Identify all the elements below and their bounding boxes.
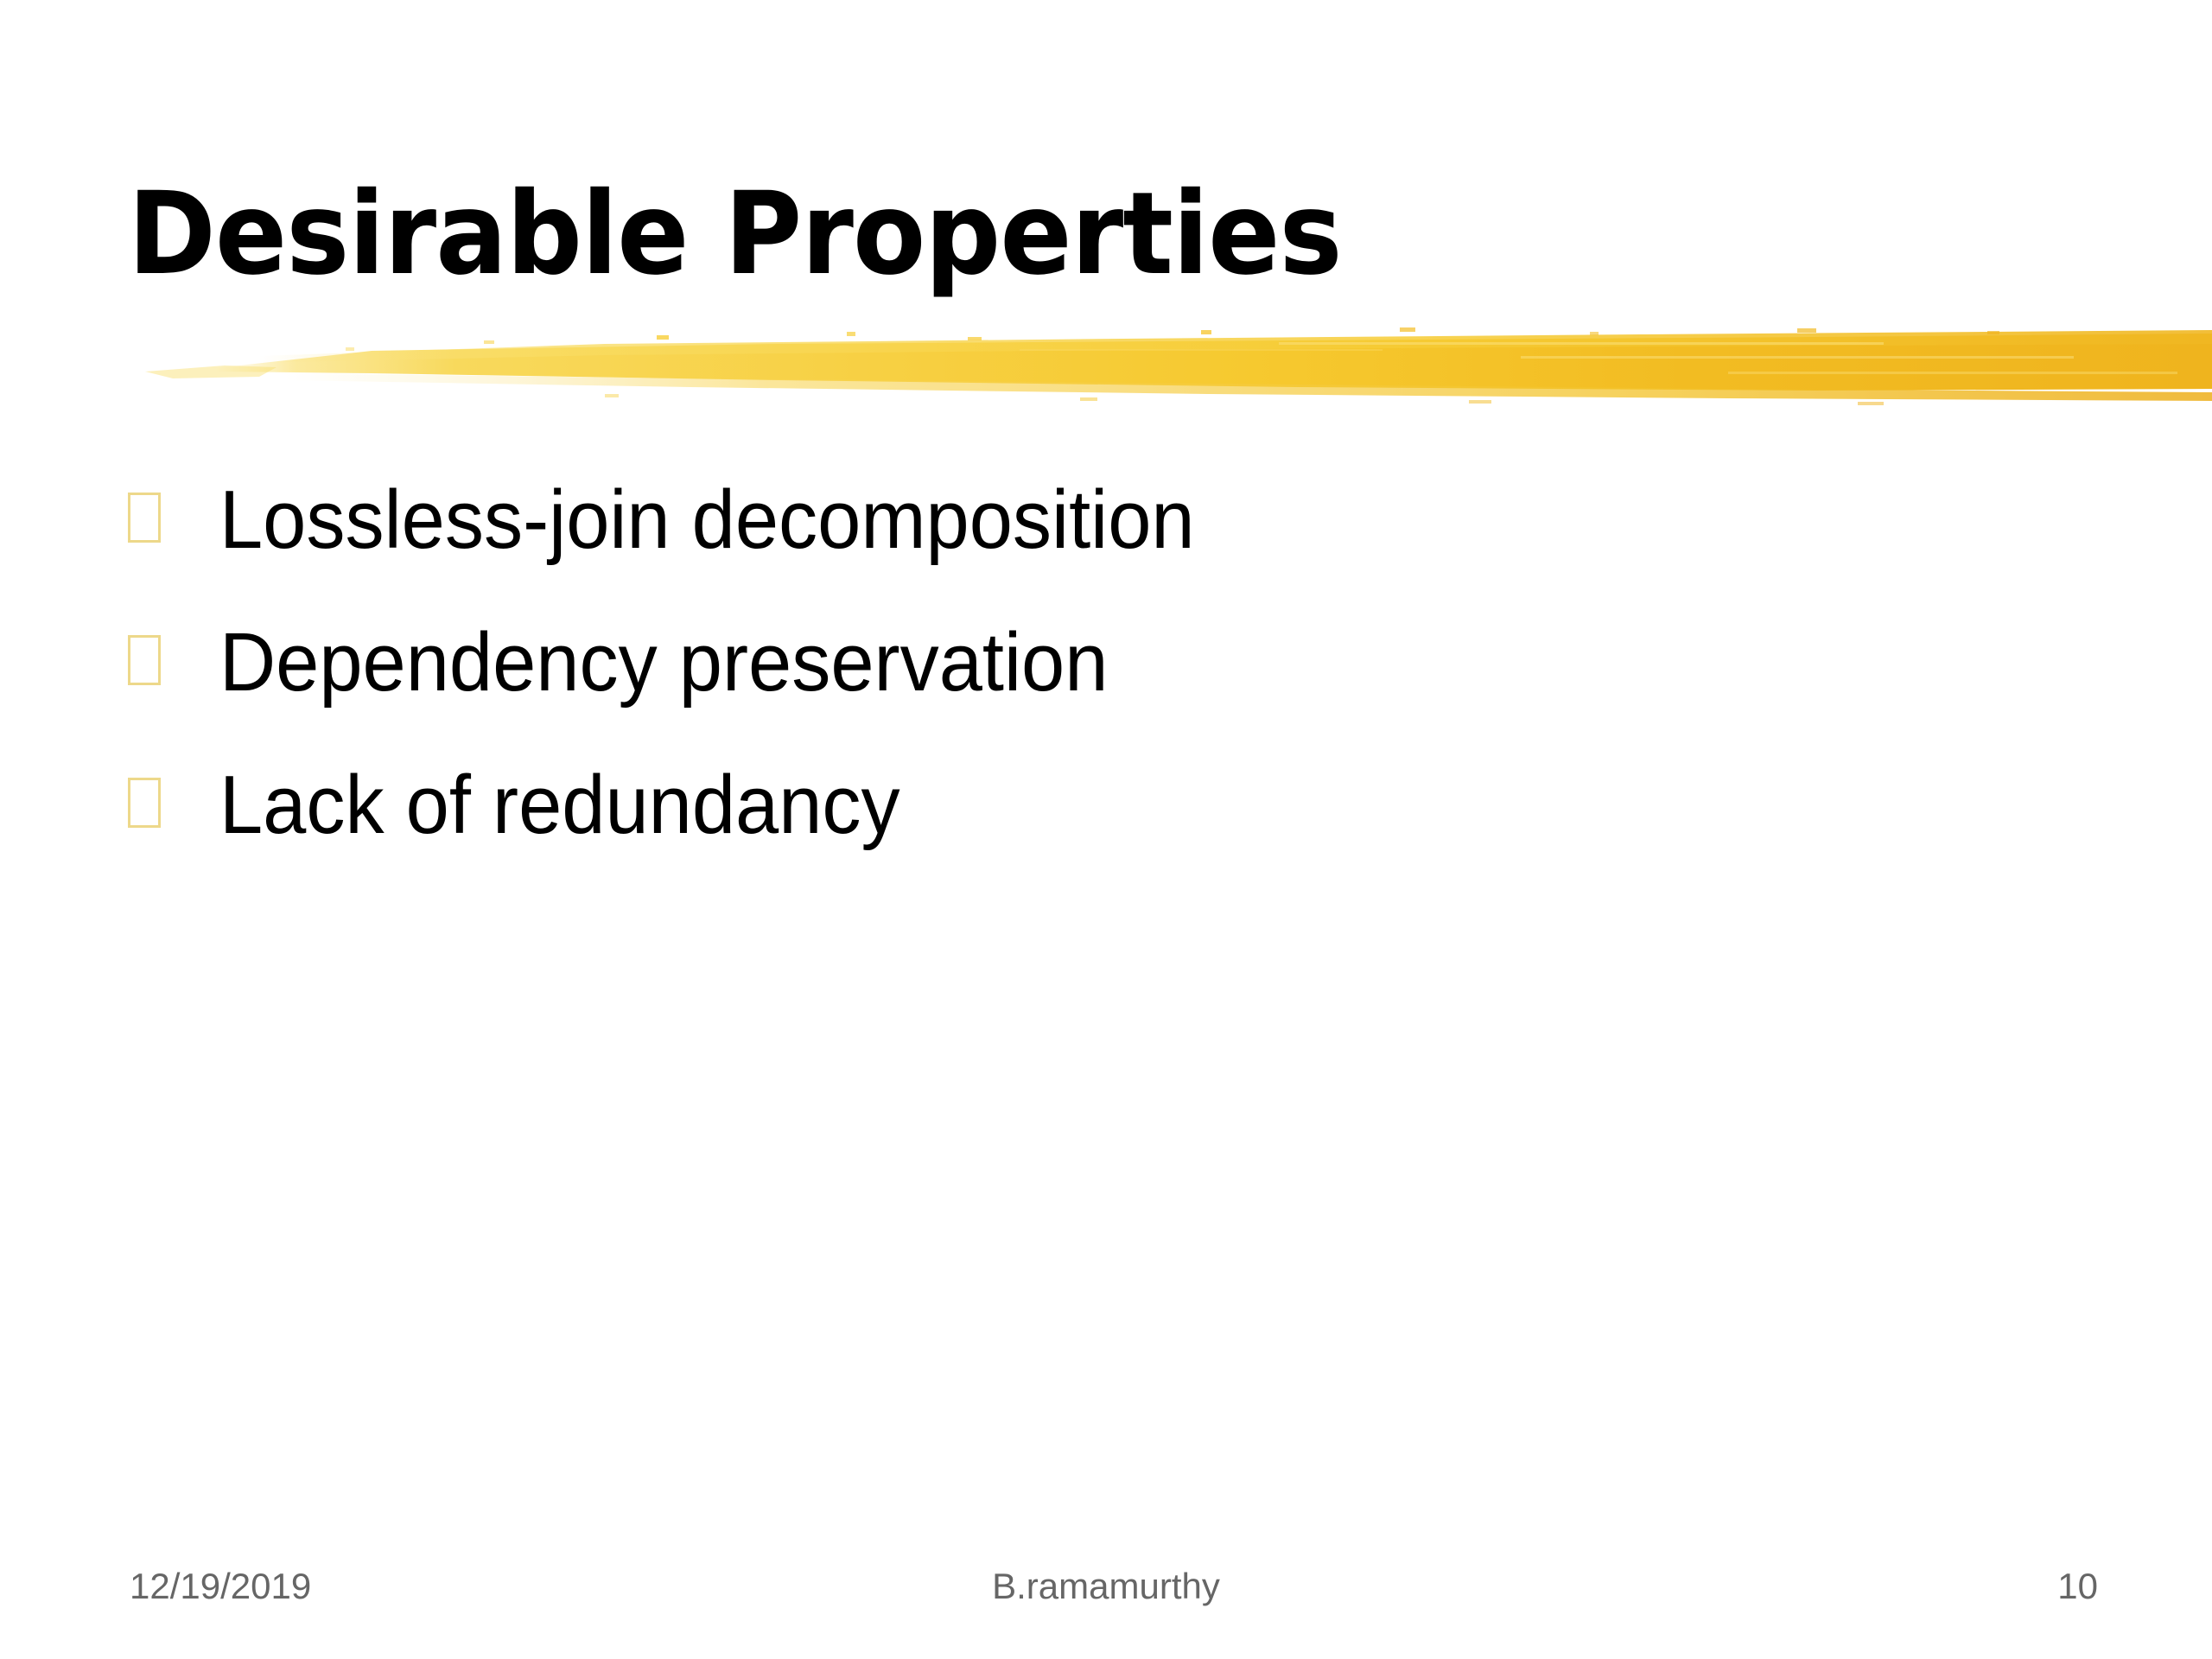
list-item: Lossless-join decomposition xyxy=(128,474,2081,616)
hollow-box-bullet-icon xyxy=(128,493,161,543)
page-title: Desirable Properties xyxy=(128,169,1976,299)
hollow-box-bullet-icon xyxy=(128,778,161,828)
title-block: Desirable Properties xyxy=(128,169,2115,308)
list-item-label: Lossless-join decomposition xyxy=(219,474,1195,567)
list-item: Dependency preservation xyxy=(128,616,2081,759)
brush-stroke-icon xyxy=(0,318,2212,413)
presentation-slide: Desirable Properties xyxy=(0,0,2212,1659)
slide-number: 10 xyxy=(2057,1566,2098,1607)
bullet-list: Lossless-join decomposition Dependency p… xyxy=(128,474,2081,901)
brush-stroke-divider xyxy=(0,318,2212,413)
list-item-label: Dependency preservation xyxy=(219,616,1108,709)
footer-author: B.ramamurthy xyxy=(0,1566,2212,1607)
list-item: Lack of redundancy xyxy=(128,759,2081,901)
list-item-label: Lack of redundancy xyxy=(219,759,900,852)
slide-footer: 12/19/2019 B.ramamurthy 10 xyxy=(0,1560,2212,1612)
hollow-box-bullet-icon xyxy=(128,635,161,685)
